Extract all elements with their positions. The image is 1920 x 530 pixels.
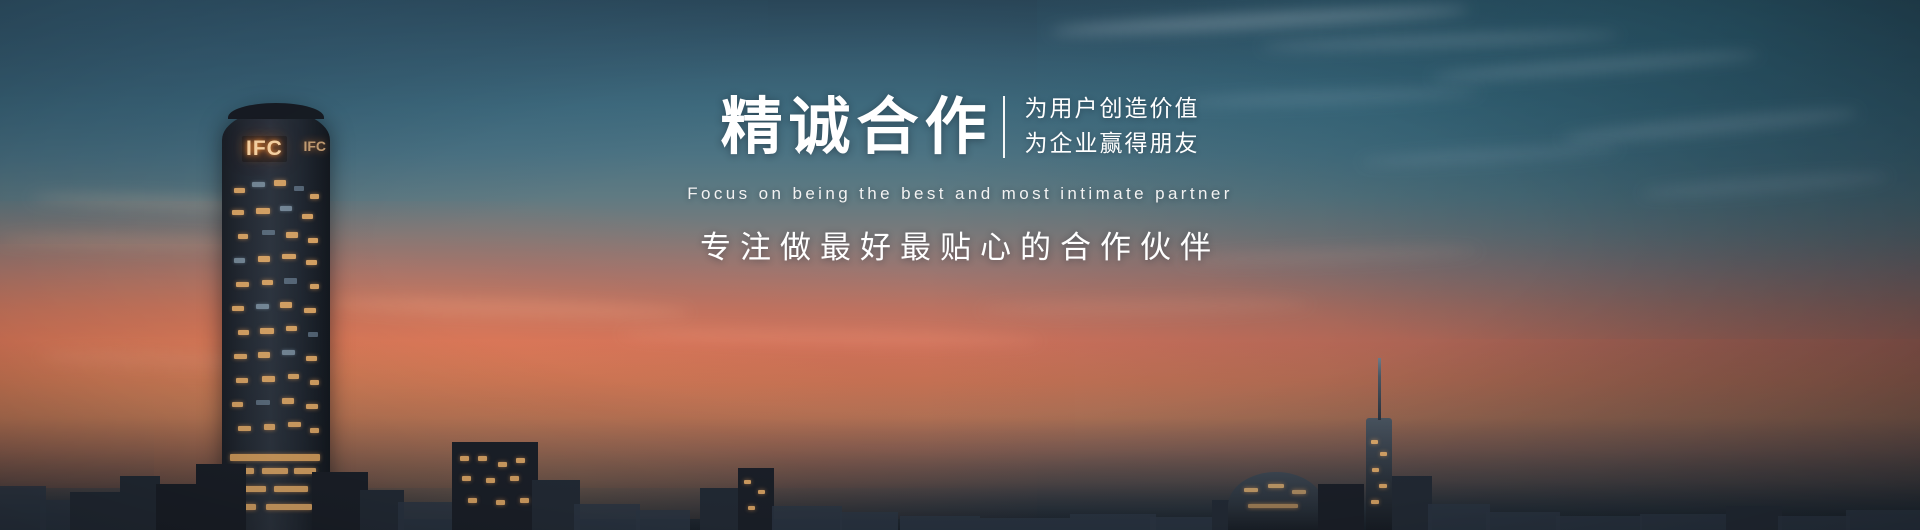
banner-text-overlay: 精诚合作 为用户创造价值 为企业赢得朋友 Focus on being the … <box>0 0 1920 530</box>
chinese-tagline: 专注做最好最贴心的合作伙伴 <box>700 222 1220 267</box>
headline-row: 精诚合作 为用户创造价值 为企业赢得朋友 <box>720 96 1199 158</box>
banner-headline: 精诚合作 <box>720 96 992 158</box>
headline-sublines: 为用户创造价值 为企业赢得朋友 <box>1025 97 1200 158</box>
hero-banner: IFC IFC <box>0 0 1920 530</box>
headline-divider <box>1003 96 1005 158</box>
subline-1: 为用户创造价值 <box>1025 97 1200 122</box>
subline-2: 为企业赢得朋友 <box>1025 132 1200 157</box>
english-tagline: Focus on being the best and most intimat… <box>687 184 1233 204</box>
